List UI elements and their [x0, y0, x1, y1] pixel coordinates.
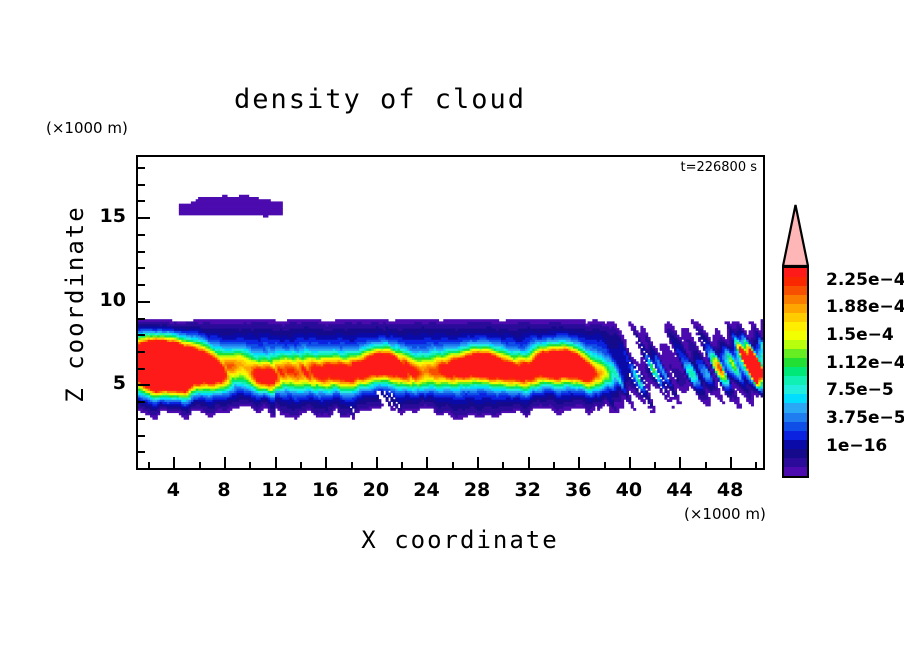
x-axis-title: X coordinate — [260, 526, 660, 554]
z-tick-label: 5 — [86, 372, 126, 394]
colorbar-band — [784, 340, 807, 349]
colorbar-tick-label: 1.88e−4 — [826, 297, 904, 317]
colorbar-band — [784, 413, 807, 422]
x-tick-label: 36 — [558, 479, 598, 501]
timestamp-annotation: t=226800 s — [680, 160, 757, 175]
z-minor-tick — [138, 418, 145, 420]
z-major-tick — [138, 217, 150, 219]
x-minor-tick — [553, 462, 555, 468]
z-minor-tick — [138, 200, 145, 202]
x-major-tick — [730, 457, 732, 468]
z-minor-tick — [138, 167, 145, 169]
colorbar-band — [784, 349, 807, 358]
x-minor-tick — [654, 462, 656, 468]
z-major-tick — [138, 384, 150, 386]
z-major-tick — [138, 301, 150, 303]
z-minor-tick — [138, 435, 145, 437]
colorbar-band — [784, 295, 807, 304]
x-minor-tick — [604, 462, 606, 468]
z-tick-label: 15 — [86, 205, 126, 227]
z-minor-tick — [138, 184, 145, 186]
x-minor-tick — [401, 462, 403, 468]
colorbar-band — [784, 304, 807, 313]
colorbar-band — [784, 313, 807, 322]
x-minor-tick — [148, 462, 150, 468]
z-minor-tick — [138, 318, 145, 320]
x-minor-tick — [755, 462, 757, 468]
x-major-tick — [325, 457, 327, 468]
x-major-tick — [376, 457, 378, 468]
contour-plot-area: t=226800 s — [136, 155, 765, 470]
z-minor-tick — [138, 351, 145, 353]
z-minor-tick — [138, 401, 145, 403]
x-major-tick — [477, 457, 479, 468]
x-minor-tick — [199, 462, 201, 468]
x-tick-label: 48 — [710, 479, 750, 501]
z-minor-tick — [138, 368, 145, 370]
z-minor-tick — [138, 251, 145, 253]
colorbar-band — [784, 286, 807, 295]
colorbar-tick-label: 7.5e−5 — [826, 380, 894, 400]
x-tick-label: 24 — [406, 479, 446, 501]
colorbar — [778, 204, 818, 484]
x-tick-label: 16 — [305, 479, 345, 501]
colorbar-band — [784, 376, 807, 385]
x-major-tick — [578, 457, 580, 468]
z-minor-tick — [138, 451, 145, 453]
colorbar-band — [784, 403, 807, 412]
colorbar-band — [784, 458, 807, 467]
x-major-tick — [679, 457, 681, 468]
colorbar-band — [784, 394, 807, 403]
x-tick-label: 12 — [255, 479, 295, 501]
colorbar-band — [784, 449, 807, 458]
z-tick-label: 10 — [86, 289, 126, 311]
colorbar-band — [784, 422, 807, 431]
x-tick-label: 8 — [204, 479, 244, 501]
colorbar-band — [784, 431, 807, 440]
x-tick-label: 20 — [356, 479, 396, 501]
x-minor-tick — [452, 462, 454, 468]
colorbar-tick-label: 1.5e−4 — [826, 325, 894, 345]
x-major-tick — [426, 457, 428, 468]
x-minor-tick — [502, 462, 504, 468]
colorbar-band — [784, 367, 807, 376]
x-minor-tick — [300, 462, 302, 468]
colorbar-band — [784, 440, 807, 449]
colorbar-band — [784, 322, 807, 331]
colorbar-band — [784, 268, 807, 277]
x-axis-unit-label: (×1000 m) — [684, 505, 766, 523]
x-tick-label: 32 — [508, 479, 548, 501]
z-minor-tick — [138, 334, 145, 336]
colorbar-cap-icon — [782, 204, 809, 268]
x-minor-tick — [249, 462, 251, 468]
x-minor-tick — [351, 462, 353, 468]
z-minor-tick — [138, 284, 145, 286]
x-major-tick — [224, 457, 226, 468]
colorbar-band — [784, 467, 807, 476]
page-title: density of cloud — [0, 84, 760, 115]
z-axis-unit-label: (×1000 m) — [46, 119, 128, 137]
x-tick-label: 4 — [153, 479, 193, 501]
colorbar-tick-label: 1e−16 — [826, 436, 887, 456]
x-minor-tick — [705, 462, 707, 468]
colorbar-band — [784, 331, 807, 340]
x-tick-label: 28 — [457, 479, 497, 501]
colorbar-band — [784, 277, 807, 286]
colorbar-tick-label: 2.25e−4 — [826, 270, 904, 290]
x-major-tick — [528, 457, 530, 468]
x-tick-label: 40 — [609, 479, 649, 501]
x-major-tick — [275, 457, 277, 468]
colorbar-tick-label: 1.12e−4 — [826, 353, 904, 373]
colorbar-bands — [782, 266, 809, 478]
x-major-tick — [173, 457, 175, 468]
contour-field — [138, 157, 763, 468]
x-tick-label: 44 — [659, 479, 699, 501]
colorbar-band — [784, 385, 807, 394]
colorbar-tick-label: 3.75e−5 — [826, 408, 904, 428]
colorbar-band — [784, 358, 807, 367]
z-minor-tick — [138, 234, 145, 236]
z-axis-title: Z coordinate — [61, 204, 89, 404]
x-major-tick — [629, 457, 631, 468]
z-minor-tick — [138, 267, 145, 269]
